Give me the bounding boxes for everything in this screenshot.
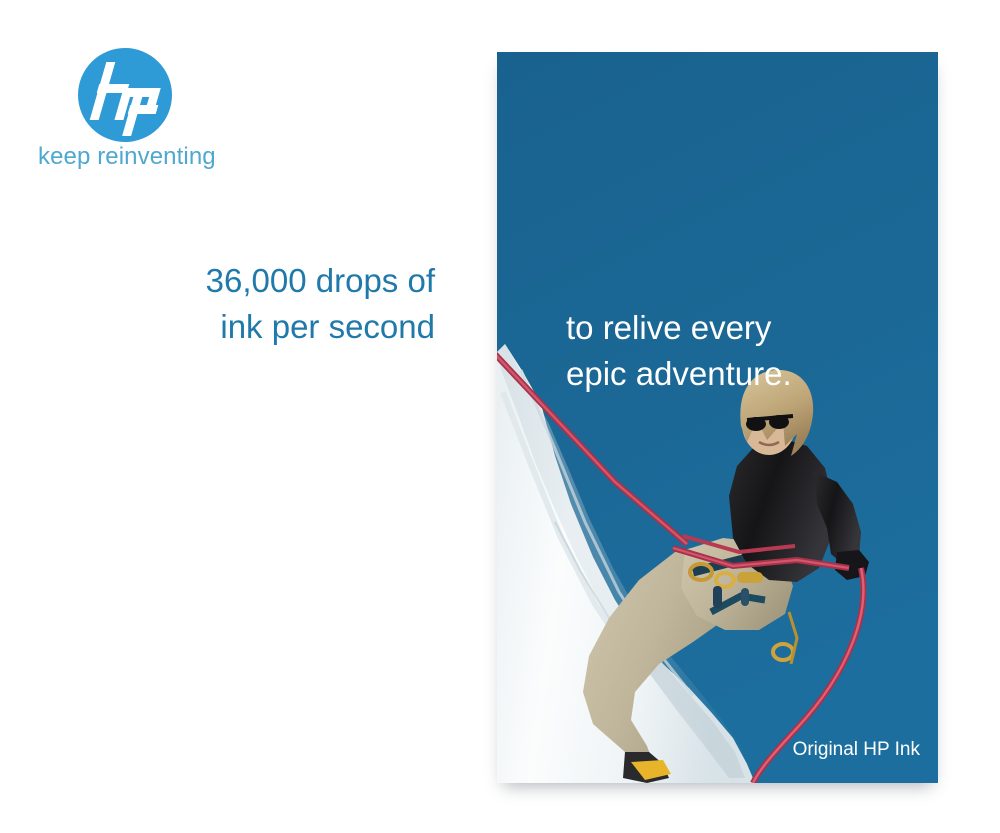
- left-headline-line1: 36,000 drops of: [60, 258, 435, 304]
- left-headline-line2: ink per second: [60, 304, 435, 350]
- left-headline: 36,000 drops of ink per second: [60, 258, 435, 349]
- hp-brand-block: keep reinventing: [38, 48, 258, 168]
- panel-caption: Original HP Ink: [793, 739, 920, 761]
- advertisement-canvas: to relive every epic adventure. Original…: [0, 0, 1000, 833]
- panel-headline-line2: epic adventure.: [566, 351, 792, 397]
- hp-tagline: keep reinventing: [38, 143, 216, 171]
- panel-headline-line1: to relive every: [566, 305, 792, 351]
- hp-letter-p-bowl-bottom: [128, 105, 159, 114]
- sunglasses-left-lens: [746, 417, 766, 431]
- ice-climber-photo: [497, 52, 938, 783]
- panel-headline: to relive every epic adventure.: [566, 305, 792, 396]
- hp-logo-icon: [78, 48, 172, 142]
- photo-panel: to relive every epic adventure. Original…: [497, 52, 938, 783]
- sunglasses-right-lens: [769, 415, 789, 429]
